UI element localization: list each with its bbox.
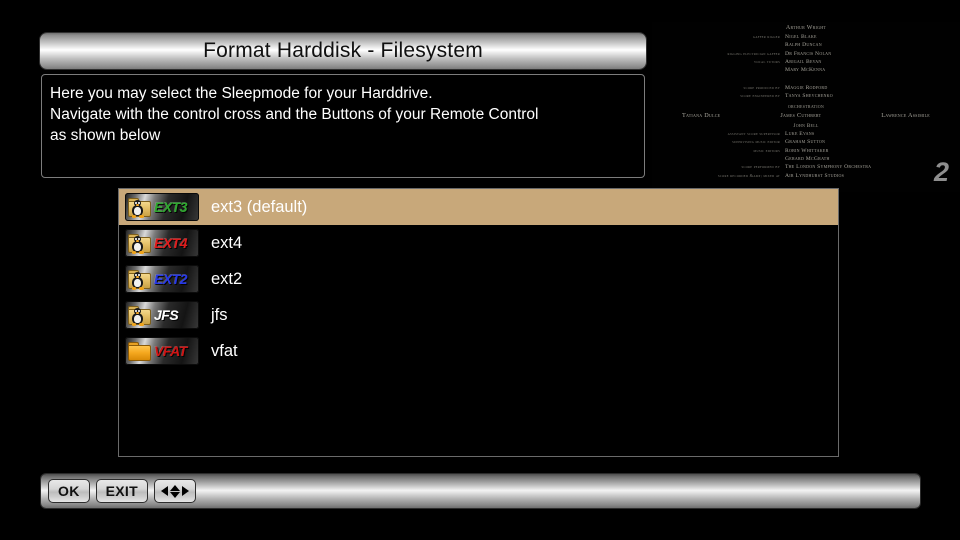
arrow-up-icon xyxy=(170,485,180,491)
channel-logo: 2 xyxy=(934,159,948,186)
filesystem-badge-label: EXT4 xyxy=(154,236,187,250)
arrow-down-icon xyxy=(170,492,180,498)
credits-section-label: orchestration xyxy=(652,104,960,111)
credits-role xyxy=(652,67,785,74)
movie-end-credits: Arthur Wright gaffer rigger Nigel Blake … xyxy=(652,22,960,192)
credits-row: score recorded &amp; mixed at Air Lyndhu… xyxy=(652,173,960,180)
credits-row: score performed by The London Symphony O… xyxy=(652,164,960,171)
folder-penguin-icon: JFS xyxy=(125,301,199,329)
list-item[interactable]: JFS jfs xyxy=(119,297,838,333)
credits-name: Nigel Blake xyxy=(785,34,960,41)
credits-role: score performed by xyxy=(652,164,785,171)
credits-orchestrators: Tatiana Dulce James Cuthbert Lawrence As… xyxy=(652,112,960,120)
credits-row: Ralph Duncan xyxy=(652,42,960,49)
list-item[interactable]: EXT3 ext3 (default) xyxy=(119,189,838,225)
credits-role: score recorded &amp; mixed at xyxy=(652,173,785,180)
credits-row: Mary McKenna xyxy=(652,67,960,74)
credits-name: Tatiana Dulce xyxy=(682,112,720,120)
list-item[interactable]: EXT4 ext4 xyxy=(119,225,838,261)
credits-role xyxy=(652,156,785,163)
credits-row: assistant score supervisor Luke Evans xyxy=(652,131,960,138)
credits-row: score produced by Maggie Rodford xyxy=(652,85,960,92)
credits-title: Arthur Wright xyxy=(652,22,960,33)
list-item[interactable]: EXT2 ext2 xyxy=(119,261,838,297)
folder-penguin-icon: EXT4 xyxy=(125,229,199,257)
arrow-left-icon xyxy=(161,486,168,496)
credits-row: rigging electrician gaffer Dr Francis No… xyxy=(652,51,960,58)
list-item-label: jfs xyxy=(211,306,228,325)
credits-name: Robin Whittaker xyxy=(785,148,960,155)
list-item[interactable]: VFAT vfat xyxy=(119,333,838,369)
credits-role xyxy=(652,42,785,49)
arrow-right-icon xyxy=(182,486,189,496)
list-item-label: ext2 xyxy=(211,270,242,289)
tux-penguin-icon xyxy=(131,308,144,325)
list-item-label: ext3 (default) xyxy=(211,198,307,217)
credits-row: vocal tutors Abigail Bevan xyxy=(652,59,960,66)
credits-name: Luke Evans xyxy=(785,131,960,138)
credits-name: Lawrence Assimile xyxy=(881,112,930,120)
tux-penguin-icon xyxy=(131,272,144,289)
credits-role: vocal tutors xyxy=(652,59,785,66)
video-preview-background: Arthur Wright gaffer rigger Nigel Blake … xyxy=(652,22,960,192)
description-line: Navigate with the control cross and the … xyxy=(50,104,634,125)
credits-row: score engineered by Tanya Shevchenko xyxy=(652,93,960,100)
credits-role: score produced by xyxy=(652,85,785,92)
credits-role: rigging electrician gaffer xyxy=(652,51,785,58)
credits-role: gaffer rigger xyxy=(652,34,785,41)
exit-button[interactable]: EXIT xyxy=(96,479,148,503)
credits-role: score engineered by xyxy=(652,93,785,100)
tux-penguin-icon xyxy=(131,236,144,253)
tux-penguin-icon xyxy=(131,200,144,217)
filesystem-badge-label: JFS xyxy=(154,308,178,322)
credits-row: music editors Robin Whittaker xyxy=(652,148,960,155)
window-title-bar: Format Harddisk - Filesystem xyxy=(40,33,646,69)
credits-row: gaffer rigger Nigel Blake xyxy=(652,34,960,41)
filesystem-list[interactable]: EXT3 ext3 (default) EXT4 ext4 xyxy=(118,188,839,457)
list-item-label: vfat xyxy=(211,342,238,361)
description-line: as shown below xyxy=(50,125,634,146)
credits-name: Graham Sutton xyxy=(785,139,960,146)
bottom-action-bar: OK EXIT xyxy=(41,474,920,508)
credits-role: supervising music editor xyxy=(652,139,785,146)
credits-name: Tanya Shevchenko xyxy=(785,93,960,100)
filesystem-badge-label: EXT3 xyxy=(154,200,187,214)
description-box: Here you may select the Sleepmode for yo… xyxy=(41,74,645,178)
credits-row: Gerard McGrath xyxy=(652,156,960,163)
credits-name: James Cuthbert xyxy=(780,112,821,120)
credits-role: music editors xyxy=(652,148,785,155)
folder-penguin-icon: EXT3 xyxy=(125,193,199,221)
folder-penguin-icon: EXT2 xyxy=(125,265,199,293)
filesystem-badge-label: EXT2 xyxy=(154,272,187,286)
navigation-cross-button[interactable] xyxy=(154,479,196,503)
credits-name: Ralph Duncan xyxy=(785,42,960,49)
credits-name: Abigail Bevan xyxy=(785,59,960,66)
control-cross-icon xyxy=(161,483,189,499)
credits-name: Mary McKenna xyxy=(785,67,960,74)
filesystem-badge-label: VFAT xyxy=(154,344,187,358)
set-top-box-screen: Arthur Wright gaffer rigger Nigel Blake … xyxy=(0,0,960,540)
credits-row: supervising music editor Graham Sutton xyxy=(652,139,960,146)
folder-icon: VFAT xyxy=(125,337,199,365)
credits-role: assistant score supervisor xyxy=(652,131,785,138)
credits-name: Dr Francis Nolan xyxy=(785,51,960,58)
description-line: Here you may select the Sleepmode for yo… xyxy=(50,83,634,104)
credits-name: John Bell xyxy=(652,123,960,130)
page-title: Format Harddisk - Filesystem xyxy=(203,39,483,63)
list-item-label: ext4 xyxy=(211,234,242,253)
credits-name: Maggie Rodford xyxy=(785,85,960,92)
ok-button[interactable]: OK xyxy=(48,479,90,503)
